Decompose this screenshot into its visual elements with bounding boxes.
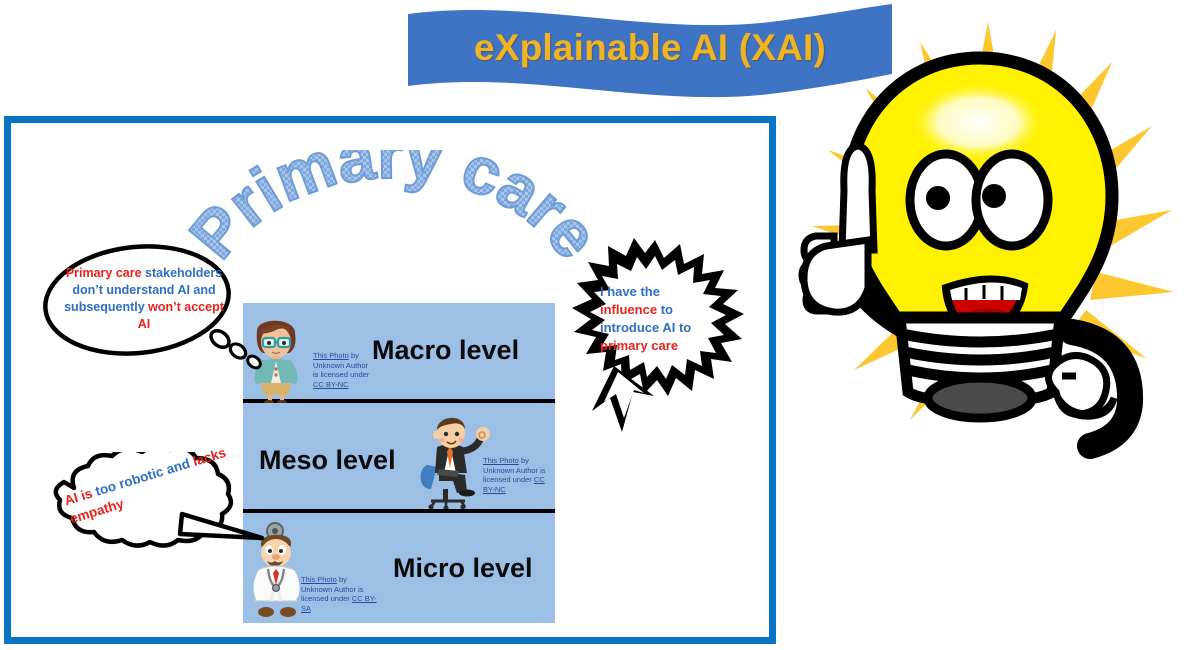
attribution-link[interactable]: This Photo xyxy=(313,351,349,360)
level-label-meso: Meso level xyxy=(259,445,396,476)
level-label-macro: Macro level xyxy=(372,335,519,366)
bulb-base xyxy=(900,318,1060,418)
bubble-segment: primary care xyxy=(600,338,678,353)
lightbulb-character-svg xyxy=(760,0,1200,560)
attribution-micro[interactable]: This Photo by Unknown Author is licensed… xyxy=(301,575,377,613)
attribution-macro[interactable]: This Photo by Unknown Author is licensed… xyxy=(313,351,375,389)
thought-bubble-macro[interactable]: Primary care stakeholders don’t understa… xyxy=(42,243,272,378)
level-row-meso[interactable]: This Photo by Unknown Author is licensed… xyxy=(243,403,555,513)
starburst-bubble-meso-text: I have the influence to introduce AI to … xyxy=(600,283,702,355)
starburst-bubble-meso[interactable]: I have the influence to introduce AI to … xyxy=(558,236,753,436)
bulb-shine xyxy=(910,82,1046,162)
lightbulb-mascot xyxy=(760,0,1200,560)
cloud-bubble-micro[interactable]: AI is too robotic and lacks empathy xyxy=(30,452,275,567)
level-row-micro[interactable]: This Photo by Unknown Author is licensed… xyxy=(243,513,555,623)
levels-panel: This Photo by Unknown Author is licensed… xyxy=(243,303,555,623)
bubble-segment: won’t accept AI xyxy=(138,300,224,331)
level-row-macro[interactable]: This Photo by Unknown Author is licensed… xyxy=(243,303,555,403)
bubble-segment: influence xyxy=(600,302,661,317)
fist-hand xyxy=(1048,355,1114,416)
attribution-meso[interactable]: This Photo by Unknown Author is licensed… xyxy=(483,456,551,494)
attribution-license[interactable]: CC BY-NC xyxy=(313,380,349,389)
bubble-segment: Primary care xyxy=(66,266,145,280)
level-label-micro: Micro level xyxy=(393,553,533,584)
bubble-segment: I have the xyxy=(600,284,660,299)
attribution-link[interactable]: This Photo xyxy=(483,456,519,465)
thought-bubble-macro-text: Primary care stakeholders don’t understa… xyxy=(64,265,224,333)
attribution-link[interactable]: This Photo xyxy=(301,575,337,584)
